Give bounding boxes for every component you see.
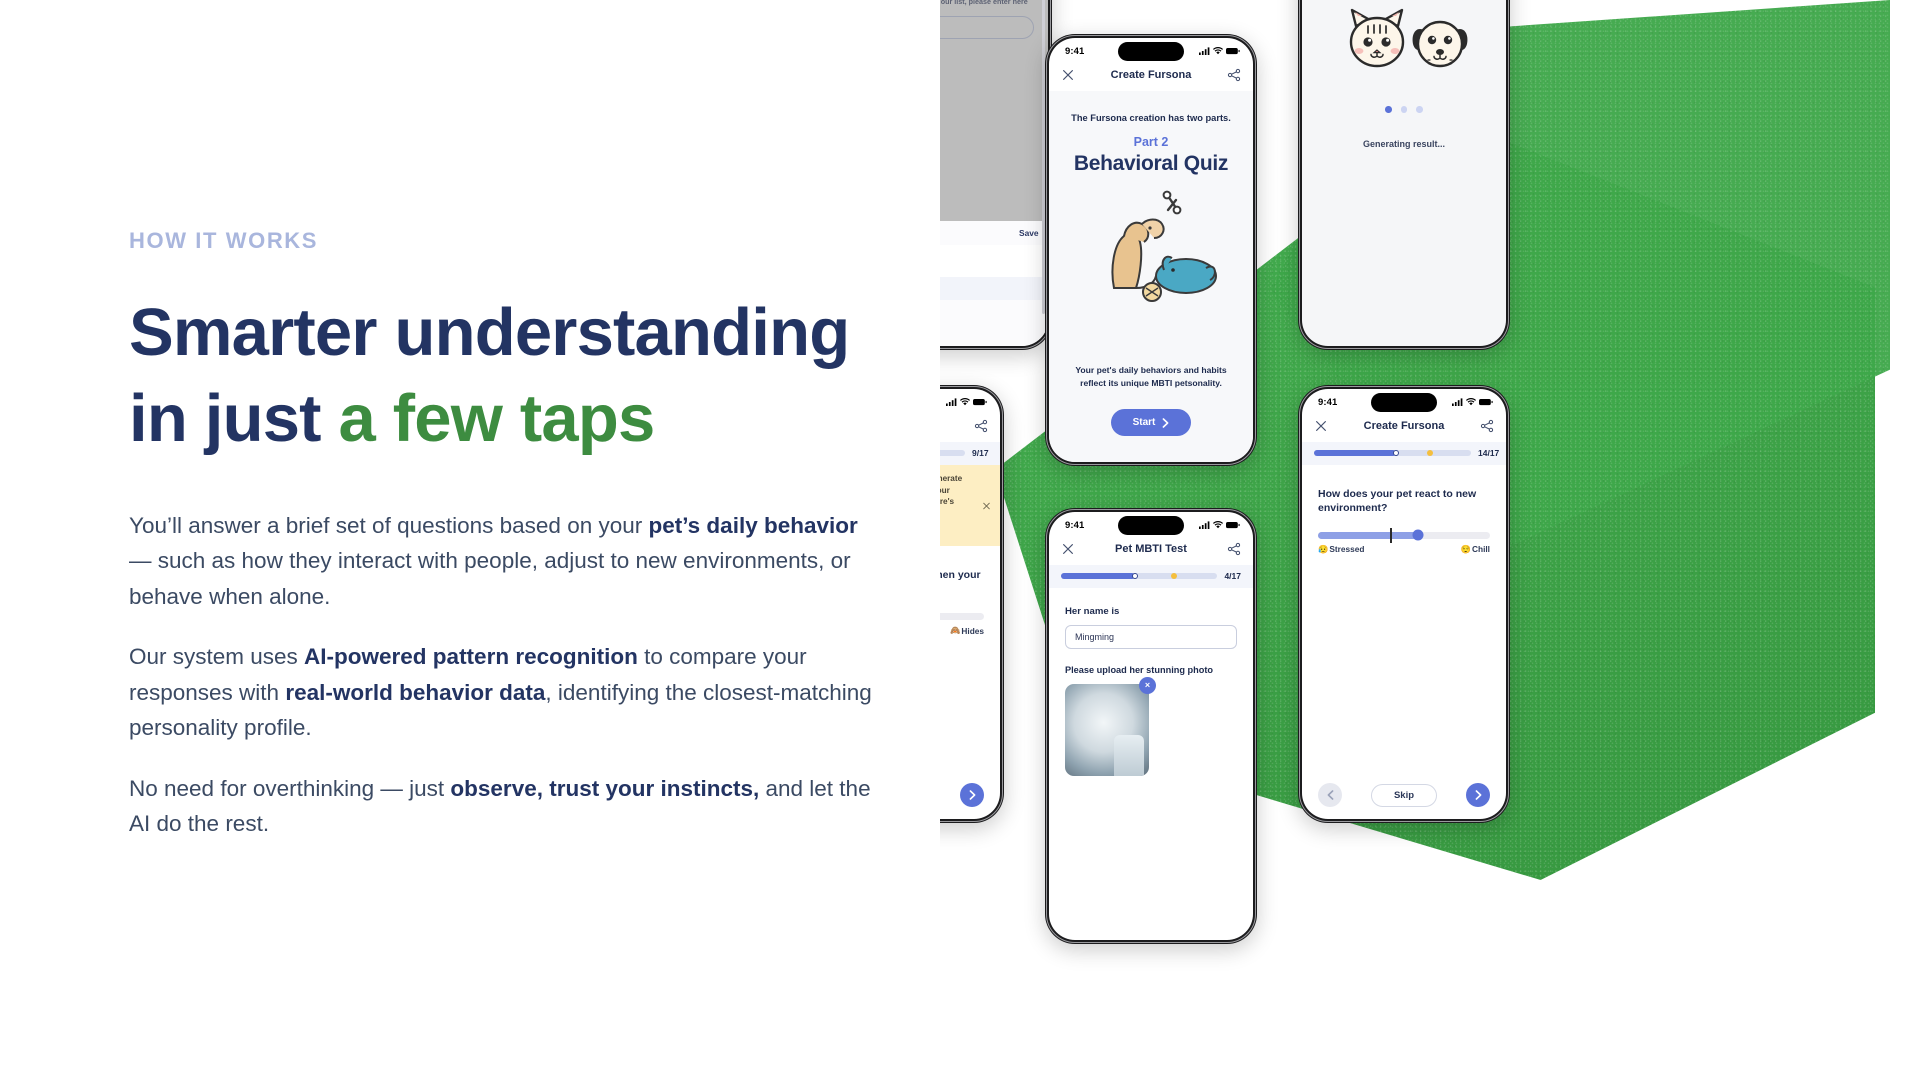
species-picker-sheet: Cancel Save Cat Dog Other: [940, 221, 1048, 346]
wifi-icon: [1213, 47, 1223, 55]
slider-labels: 🏠Welcomes 🙈Hides: [940, 625, 984, 636]
close-icon[interactable]: [1061, 542, 1075, 556]
progress-label: 4/17: [1224, 572, 1241, 581]
loading-dots: [1385, 106, 1423, 113]
body-paragraph: Our system uses AI-powered pattern recog…: [129, 639, 884, 746]
share-icon[interactable]: [1480, 419, 1494, 433]
tip-banner: More information can helps us generate a…: [940, 465, 1000, 547]
manual-breed-input[interactable]: Please enter a breed: [940, 16, 1034, 39]
close-icon[interactable]: [982, 501, 991, 510]
nav-title: Pet MBTI Test: [1115, 543, 1187, 555]
progress-label: 9/17: [972, 449, 988, 458]
phone-mbti-name: 9:41 Pet MBTI Test 4/17: [1045, 508, 1257, 944]
quiz-subtitle: The Fursona creation has two parts.: [1071, 113, 1231, 123]
wifi-icon: [960, 398, 970, 406]
cellular-signal-icon: [1452, 398, 1463, 406]
chevron-right-icon: [969, 790, 976, 800]
cellular-signal-icon: [946, 398, 957, 406]
species-picker-wheel[interactable]: Cat Dog Other: [940, 245, 1048, 346]
previous-button[interactable]: [1318, 783, 1342, 807]
picker-option-dog[interactable]: Dog: [940, 300, 1048, 323]
nav-title: Create Fursona: [1111, 69, 1192, 81]
progress-label: 14/17: [1478, 449, 1494, 458]
status-bar: 9:41: [1302, 389, 1506, 415]
share-icon[interactable]: [1227, 68, 1241, 82]
phone-generating-result: Generating result...: [1298, 0, 1510, 350]
nav-bar: Create Fursona: [1049, 64, 1253, 91]
progress-bar-row: 9/17: [940, 442, 1000, 465]
dynamic-island: [1371, 393, 1437, 412]
nav-title: Create Fursona: [1364, 420, 1445, 432]
body-paragraph: You’ll answer a brief set of questions b…: [129, 508, 884, 615]
progress-fill: [1314, 450, 1396, 456]
nav-bar: Pet MBTI Test: [1049, 538, 1253, 565]
body-paragraphs: You’ll answer a brief set of questions b…: [129, 508, 889, 842]
slider-fill: [1318, 532, 1418, 539]
picker-save-button[interactable]: Save: [1019, 229, 1036, 238]
uploaded-photo[interactable]: [1065, 684, 1149, 776]
phone-question-environment: 9:41 Create Fursona 14/17: [1298, 385, 1510, 823]
progress-track[interactable]: [940, 450, 965, 456]
photo-upload-label: Please upload her stunning photo: [1049, 649, 1253, 675]
picker-option-cat[interactable]: Cat: [940, 277, 1048, 300]
remove-photo-button[interactable]: ×: [1139, 677, 1156, 694]
close-icon[interactable]: [1314, 419, 1328, 433]
status-time: 9:41: [1065, 46, 1084, 57]
start-button[interactable]: Start: [1111, 409, 1192, 436]
question-text: What does your pet do when your friends …: [940, 546, 1000, 597]
battery-icon: [1479, 398, 1493, 406]
slider-label-right: 🙈Hides: [950, 625, 984, 636]
cat-dog-avatar-illustration: [1340, 6, 1468, 76]
status-time: 9:41: [1065, 520, 1084, 531]
progress-current-marker: [1393, 450, 1399, 456]
generating-status-text: Generating result...: [1363, 139, 1445, 149]
slider-labels: 😥Stressed 😌Chill: [1318, 544, 1490, 555]
page-title: Smarter understanding in just a few taps: [129, 290, 889, 462]
phone-mockup-collage: My pet is a ▲ Breed ▼ *If you can not fi…: [940, 0, 1920, 1080]
quiz-part-label: Part 2: [1134, 135, 1169, 149]
phone-breed-picker: My pet is a ▲ Breed ▼ *If you can not fi…: [940, 0, 1052, 350]
phone-behavioral-quiz: 9:41 Create Fursona The Fursona creation…: [1045, 34, 1257, 466]
section-eyebrow: HOW IT WORKS: [129, 228, 889, 254]
slider-track[interactable]: [940, 613, 984, 620]
headline-line-1: Smarter understanding: [129, 295, 849, 370]
chill-emoji: 😌: [1461, 544, 1471, 555]
status-bar: 9:41: [1049, 38, 1253, 64]
generating-body: Generating result...: [1302, 0, 1506, 346]
chevron-right-icon: [1162, 418, 1169, 428]
breed-form: My pet is a ▲ Breed ▼ *If you can not fi…: [940, 0, 1048, 221]
close-icon[interactable]: [1061, 68, 1075, 82]
quiz-note: Your pet's daily behaviors and habits re…: [1067, 364, 1235, 389]
chevron-right-icon: [1475, 790, 1482, 800]
dog-cat-illustration: [1076, 184, 1226, 304]
headline-line-2-navy: in just: [129, 381, 339, 456]
quiz-title: Behavioral Quiz: [1074, 152, 1228, 176]
hides-emoji: 🙈: [950, 625, 960, 636]
progress-amber-marker: [1171, 573, 1177, 579]
battery-icon: [1226, 47, 1240, 55]
question-text: How does your pet react to new environme…: [1302, 465, 1506, 516]
progress-track[interactable]: [1314, 450, 1471, 456]
start-button-label: Start: [1133, 417, 1156, 428]
quiz-intro-body: The Fursona creation has two parts. Part…: [1049, 91, 1253, 462]
breed-helper-note: *If you can not find your pet's breed in…: [940, 0, 1034, 7]
answer-slider[interactable]: 😥Stressed 😌Chill: [1302, 516, 1506, 555]
slider-label-right: 😌Chill: [1461, 544, 1490, 555]
wifi-icon: [1466, 398, 1476, 406]
status-time: 9:41: [1318, 397, 1337, 408]
progress-bar-row: 14/17: [1302, 442, 1506, 465]
dynamic-island: [1118, 42, 1184, 61]
battery-icon: [973, 398, 987, 406]
share-icon[interactable]: [1227, 542, 1241, 556]
footer-navigation: Skip: [1302, 783, 1506, 807]
progress-bar-row: 4/17: [1049, 565, 1253, 588]
status-bar: 9:41: [1049, 512, 1253, 538]
name-field-label: Her name is: [1049, 588, 1253, 617]
phone-question-friends: 9:41 Create Fursona 9/17: [940, 385, 1004, 823]
nav-bar: Create Fursona: [940, 415, 1000, 442]
share-icon[interactable]: [974, 419, 988, 433]
progress-track[interactable]: [1061, 573, 1217, 579]
slider-track[interactable]: [1318, 532, 1490, 539]
progress-current-marker: [1132, 573, 1138, 579]
body-paragraph: No need for overthinking — just observe,…: [129, 771, 884, 842]
cellular-signal-icon: [1199, 47, 1210, 55]
next-button[interactable]: [960, 783, 984, 807]
loading-dot-1: [1385, 106, 1392, 113]
headline-line-2-green: a few taps: [339, 381, 655, 456]
slider-tick: [1390, 528, 1391, 543]
skip-button[interactable]: Skip: [1371, 784, 1437, 807]
stressed-emoji: 😥: [1318, 544, 1328, 555]
progress-fill: [1061, 573, 1135, 579]
tip-banner-text: More information can helps us generate a…: [940, 473, 964, 520]
next-button[interactable]: [1466, 783, 1490, 807]
uploaded-photo-container: ×: [1065, 684, 1149, 776]
how-it-works-section: HOW IT WORKS Smarter understanding in ju…: [129, 228, 889, 867]
chevron-left-icon: [1327, 790, 1334, 800]
answer-slider[interactable]: 🏠Welcomes 🙈Hides: [940, 597, 1000, 636]
slider-knob: [1412, 530, 1423, 541]
battery-icon: [1226, 521, 1240, 529]
progress-amber-marker: [1427, 450, 1433, 456]
slider-label-left: 😥Stressed: [1318, 544, 1364, 555]
dynamic-island: [1118, 516, 1184, 535]
status-bar: 9:41: [940, 389, 1000, 415]
loading-dot-2: [1401, 106, 1408, 113]
picker-option-other[interactable]: Other: [940, 323, 1048, 346]
footer-navigation: Skip: [940, 783, 1000, 807]
cellular-signal-icon: [1199, 521, 1210, 529]
nav-bar: Create Fursona: [1302, 415, 1506, 442]
loading-dot-3: [1416, 106, 1423, 113]
wifi-icon: [1213, 521, 1223, 529]
pet-name-input[interactable]: Mingming: [1065, 625, 1237, 649]
